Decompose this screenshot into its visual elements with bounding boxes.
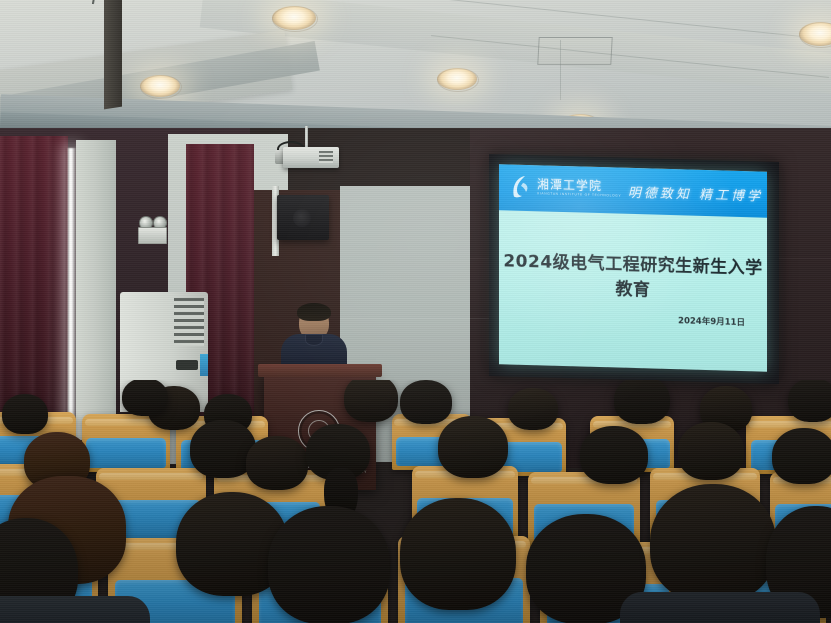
audience-head [246, 436, 308, 490]
audience-shoulders [620, 592, 820, 623]
audience-head [614, 380, 670, 424]
audience-head [580, 426, 648, 484]
ac-vent-louvers [174, 298, 204, 346]
downlight-rim [140, 75, 182, 99]
lecture-hall-photo: 湘潭工学院 XIANGTAN INSTITUTE OF TECHNOLOGY 明… [0, 0, 831, 623]
slide-header-band: 湘潭工学院 XIANGTAN INSTITUTE OF TECHNOLOGY 明… [499, 164, 767, 217]
presenter-hair [297, 303, 331, 321]
emergency-light [136, 216, 168, 242]
slide-date: 2024年9月11日 [678, 314, 745, 328]
logo-name-cn: 湘潭工学院 [537, 179, 621, 193]
downlight-rim [272, 6, 318, 32]
audience-shoulders [0, 596, 150, 623]
seat-lip [749, 421, 831, 428]
university-logo-icon [511, 174, 533, 201]
ac-energy-label [200, 354, 208, 376]
audience-head [508, 388, 558, 430]
audience-head [772, 428, 831, 484]
podium-desktop [258, 364, 382, 377]
logo-text-block: 湘潭工学院 XIANGTAN INSTITUTE OF TECHNOLOGY [537, 179, 621, 199]
projection-screen-frame: 湘潭工学院 XIANGTAN INSTITUTE OF TECHNOLOGY 明… [489, 154, 779, 384]
audience-head [400, 380, 452, 424]
projection-screen: 湘潭工学院 XIANGTAN INSTITUTE OF TECHNOLOGY 明… [499, 164, 767, 371]
audience-head [678, 422, 744, 480]
slide-motto: 明德致知 精工博学 [628, 182, 763, 205]
audience-head [650, 484, 776, 602]
audience-head [122, 380, 168, 416]
presenter-collar [305, 334, 323, 346]
emergency-light-body [138, 227, 167, 244]
seat-lip [99, 473, 202, 480]
audience-head [788, 380, 831, 422]
projector-vent [319, 151, 333, 163]
audience-head [268, 506, 390, 623]
logo-name-en: XIANGTAN INSTITUTE OF TECHNOLOGY [537, 193, 621, 199]
podium-side-panel [104, 0, 122, 109]
seat-cushion [86, 438, 165, 468]
downlight-rim [799, 22, 831, 48]
ac-control-panel [176, 360, 198, 370]
audience-head [2, 394, 48, 434]
projector-body [283, 147, 339, 168]
audience-head [344, 380, 398, 422]
wall-seam [340, 318, 490, 319]
wall-speaker [277, 195, 329, 240]
slide-title: 2024级电气工程研究生新生入学教育 [499, 246, 767, 303]
audience-seating-area [0, 380, 831, 623]
speaker-cone [293, 209, 311, 227]
audience-head [400, 498, 516, 610]
audience-head [438, 416, 508, 478]
slide-logo: 湘潭工学院 XIANGTAN INSTITUTE OF TECHNOLOGY [511, 174, 621, 203]
ceiling-seam [560, 40, 561, 100]
downlight-rim [437, 68, 479, 92]
